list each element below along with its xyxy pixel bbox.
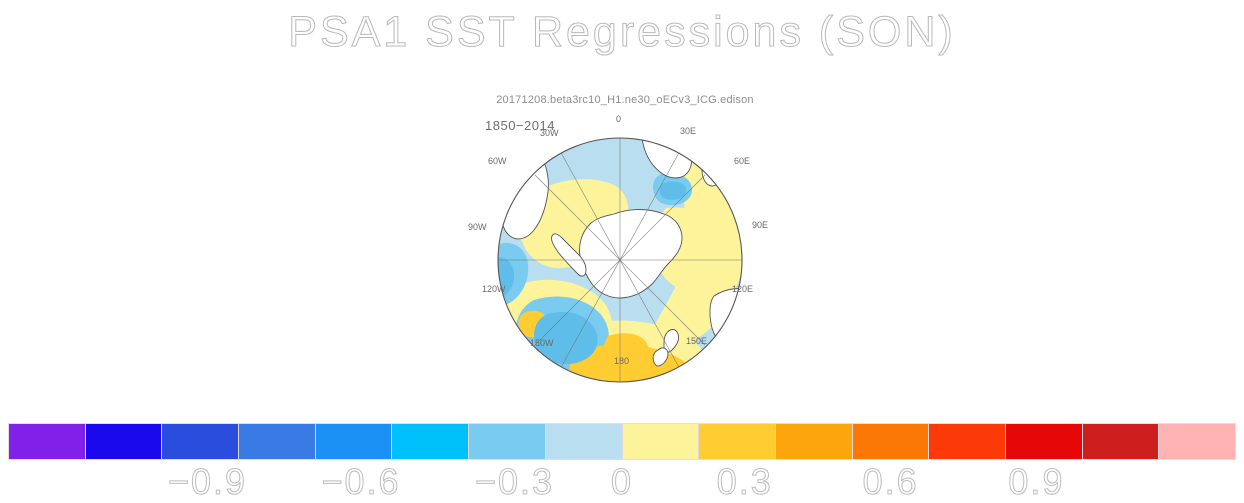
colorbar-segment-9 <box>698 424 775 459</box>
lon-label-90E: 90E <box>752 220 768 230</box>
colorbar-segment-7 <box>545 424 622 459</box>
lon-label-30E: 30E <box>680 126 696 136</box>
colorbar-segment-4 <box>315 424 392 459</box>
colorbar-segment-13 <box>1005 424 1082 459</box>
colorbar-tick--0.9: −0.9 <box>168 461 247 503</box>
lon-label-90W: 90W <box>468 222 487 232</box>
tasmania-coast <box>733 353 744 364</box>
lon-label-60E: 60E <box>734 156 750 166</box>
colorbar-segment-8 <box>622 424 699 459</box>
lon-label-30W: 30W <box>540 128 559 138</box>
lon-label-120W: 120W <box>482 284 506 294</box>
colorbar-segment-15 <box>1158 424 1235 459</box>
lon-label-150E: 150E <box>686 336 707 346</box>
lon-label-180: 180 <box>614 356 629 366</box>
colorbar-tick-0.9: 0.9 <box>1008 461 1064 503</box>
page-title: PSA1 SST Regressions (SON) <box>0 8 1244 57</box>
polar-map: 0 30E 60E 90E 120E 150E 180 150W 120W 90… <box>430 88 820 408</box>
colorbar-tick--0.6: −0.6 <box>322 461 401 503</box>
colorbar-segment-0 <box>9 424 85 459</box>
colorbar-segment-14 <box>1082 424 1159 459</box>
lon-label-60W: 60W <box>488 156 507 166</box>
map-plot-panel: 20171208.beta3rc10_H1.ne30_oECv3_ICG.edi… <box>430 88 820 408</box>
colorbar-tick-0.6: 0.6 <box>863 461 919 503</box>
colorbar-tick-0: 0 <box>611 461 633 503</box>
colorbar-tick-0.3: 0.3 <box>717 461 773 503</box>
lon-label-0: 0 <box>616 114 621 124</box>
australia-coast <box>710 289 776 352</box>
lon-label-120E: 120E <box>732 284 753 294</box>
colorbar-segment-10 <box>775 424 852 459</box>
colorbar-segment-5 <box>391 424 468 459</box>
colorbar-segment-1 <box>85 424 162 459</box>
colorbar[interactable] <box>8 423 1236 460</box>
lon-label-150W: 150W <box>530 338 554 348</box>
colorbar-tick-labels: −0.9−0.6−0.300.30.60.9 <box>0 461 1244 502</box>
colorbar-segment-3 <box>238 424 315 459</box>
colorbar-tick--0.3: −0.3 <box>475 461 554 503</box>
colorbar-segment-6 <box>468 424 545 459</box>
colorbar-segment-2 <box>161 424 238 459</box>
colorbar-segment-11 <box>852 424 929 459</box>
colorbar-segment-12 <box>928 424 1005 459</box>
